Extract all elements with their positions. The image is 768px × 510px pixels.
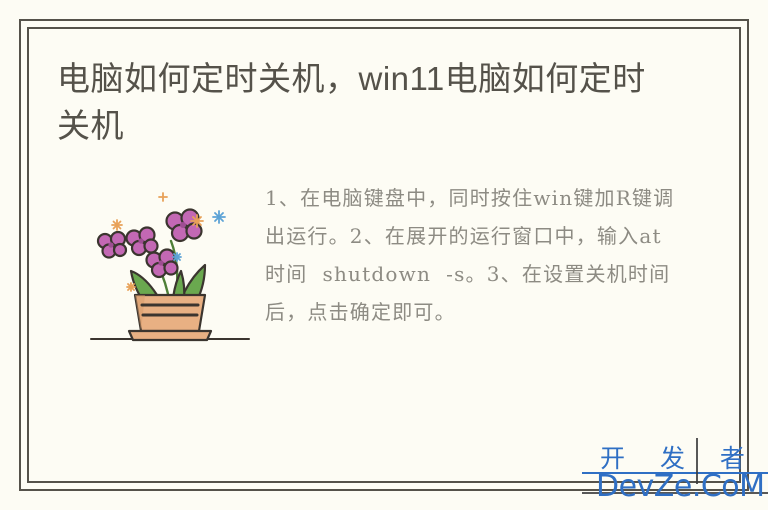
article-body-row: 1、在电脑键盘中，同时按住win键加R键调出运行。2、在展开的运行窗口中，输入a…: [57, 179, 703, 358]
watermark-rule-bottom: [582, 492, 768, 494]
page-title: 电脑如何定时关机，win11电脑如何定时关机: [57, 55, 667, 149]
article-body-text: 1、在电脑键盘中，同时按住win键加R键调出运行。2、在展开的运行窗口中，输入a…: [265, 179, 695, 331]
potted-orchid-illustration: [85, 183, 255, 358]
article-card: 电脑如何定时关机，win11电脑如何定时关机: [0, 0, 768, 510]
card-content: 电脑如何定时关机，win11电脑如何定时关机: [27, 27, 741, 483]
